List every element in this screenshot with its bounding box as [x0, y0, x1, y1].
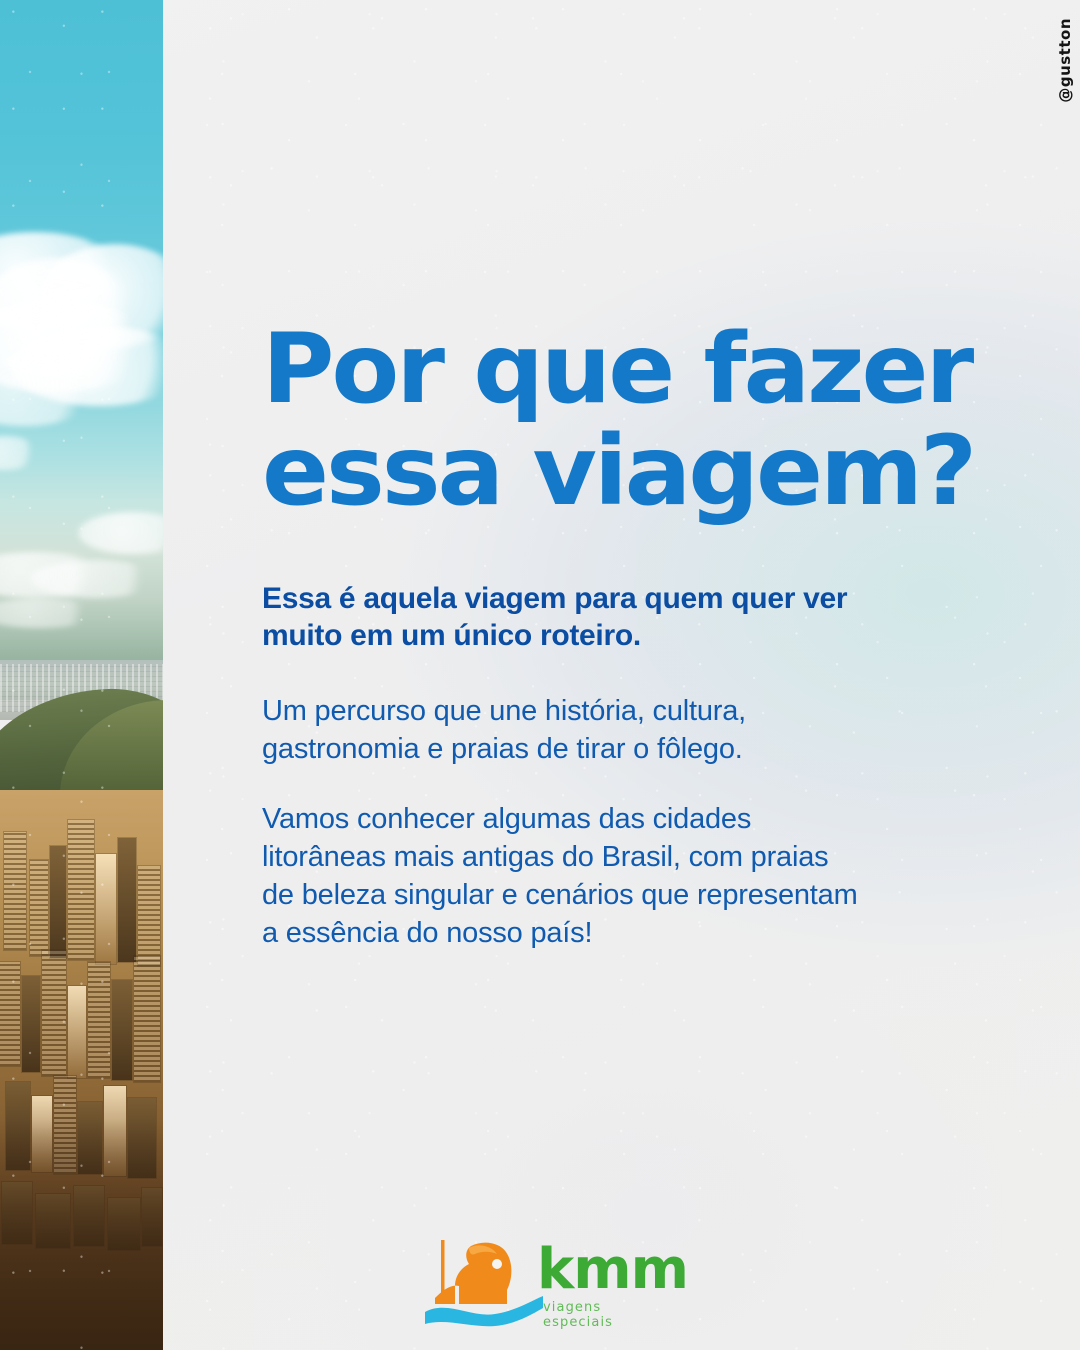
- poster-canvas: @gustton Por que fazer essa viagem? Essa…: [0, 0, 1080, 1350]
- logo-wordmark: kmm: [537, 1242, 688, 1298]
- body-paragraph-1: Um percurso que une história, cultura, g…: [262, 692, 952, 768]
- fisherman-boat-wave-icon: [425, 1238, 543, 1330]
- brand-logo: kmm viagens especiais: [0, 1238, 1080, 1330]
- photo-strip: [0, 0, 163, 1350]
- content-column: Por que fazer essa viagem? Essa é aquela…: [262, 0, 962, 1350]
- cloud-shape: [30, 560, 160, 598]
- author-handle-watermark: @gustton: [1056, 18, 1074, 103]
- body-paragraph-2: Vamos conhecer algumas das cidades litor…: [262, 800, 952, 952]
- lead-paragraph: Essa é aquela viagem para quem quer ver …: [262, 580, 934, 654]
- logo-tagline: viagens especiais: [543, 1300, 655, 1330]
- page-title: Por que fazer essa viagem?: [262, 318, 974, 522]
